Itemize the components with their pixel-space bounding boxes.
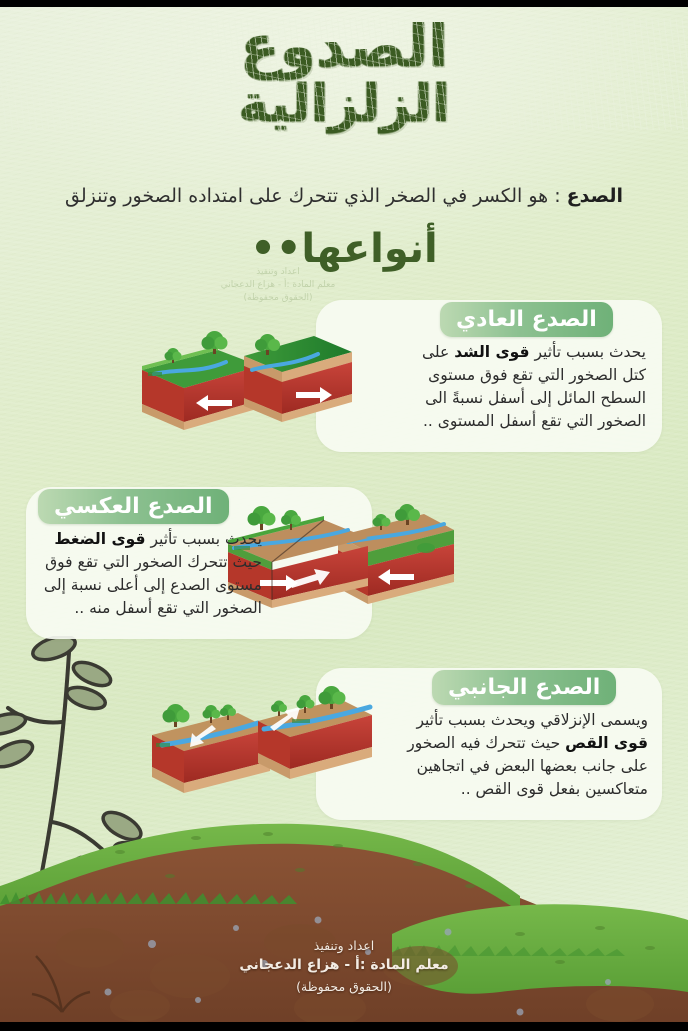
credits-line-2: معلم المادة :أ - هزاع الدعجاني — [184, 955, 504, 977]
text-reverse-bold: قوى الضغط — [54, 530, 145, 548]
text-normal-bold: قوى الشد — [454, 343, 529, 361]
text-lateral-bold: قوى القص — [565, 734, 648, 752]
diagram-normal-fault — [140, 318, 352, 436]
definition-separator: : — [548, 185, 566, 207]
credits-line-1: اعداد وتنفيذ — [184, 936, 504, 955]
badge-lateral-fault: الصدع الجانبي — [432, 670, 616, 705]
top-black-bar — [0, 0, 688, 7]
left-block — [152, 704, 270, 793]
page-title: الصدوع الزلزالية — [0, 18, 688, 130]
diagram-lateral-fault — [152, 683, 372, 807]
watermark-line-2: معلم المادة :أ - هزاع الدعجاني — [188, 279, 368, 292]
definition-term: الصدع — [567, 185, 623, 207]
bottom-black-bar — [0, 1022, 688, 1031]
right-block — [258, 686, 372, 779]
text-reverse-before: يحدث بسبب تأثير — [146, 530, 262, 548]
footer-credits: اعداد وتنفيذ معلم المادة :أ - هزاع الدعج… — [184, 936, 504, 996]
text-lateral-before: ويسمى الإنزلاقي ويحدث بسبب تأثير — [416, 711, 648, 729]
text-normal-before: يحدث بسبب تأثير — [530, 343, 646, 361]
text-reverse-fault: يحدث بسبب تأثير قوى الضغط حيث تتحرك الصخ… — [36, 528, 262, 620]
right-block — [244, 334, 352, 422]
badge-reverse-fault: الصدع العكسي — [38, 489, 229, 524]
tree — [163, 704, 190, 727]
tree — [271, 701, 287, 717]
text-lateral-fault: ويسمى الإنزلاقي ويحدث بسبب تأثير قوى الق… — [404, 709, 648, 801]
infographic-page: الصدوع الزلزالية الصدع : هو الكسر في الص… — [0, 0, 688, 1031]
types-heading: أنواعها•• — [0, 226, 688, 272]
text-reverse-after: حيث تتحرك الصخور التي تقع فوق مستوى الصد… — [44, 553, 262, 617]
definition-text: هو الكسر في الصخر الذي تتحرك على امتداده… — [65, 185, 548, 207]
ground-illustration — [0, 816, 688, 1031]
badge-normal-fault: الصدع العادي — [440, 302, 613, 337]
left-block — [142, 331, 260, 430]
title-line-2: الزلزالية — [0, 79, 688, 130]
text-normal-fault: يحدث بسبب تأثير قوى الشد على كتل الصخور … — [420, 341, 646, 433]
tree — [248, 506, 276, 530]
title-line-1: الصدوع — [0, 18, 688, 75]
credits-line-3: (الحقوق محفوظة) — [184, 977, 504, 996]
fault-definition: الصدع : هو الكسر في الصخر الذي تتحرك على… — [26, 182, 662, 211]
